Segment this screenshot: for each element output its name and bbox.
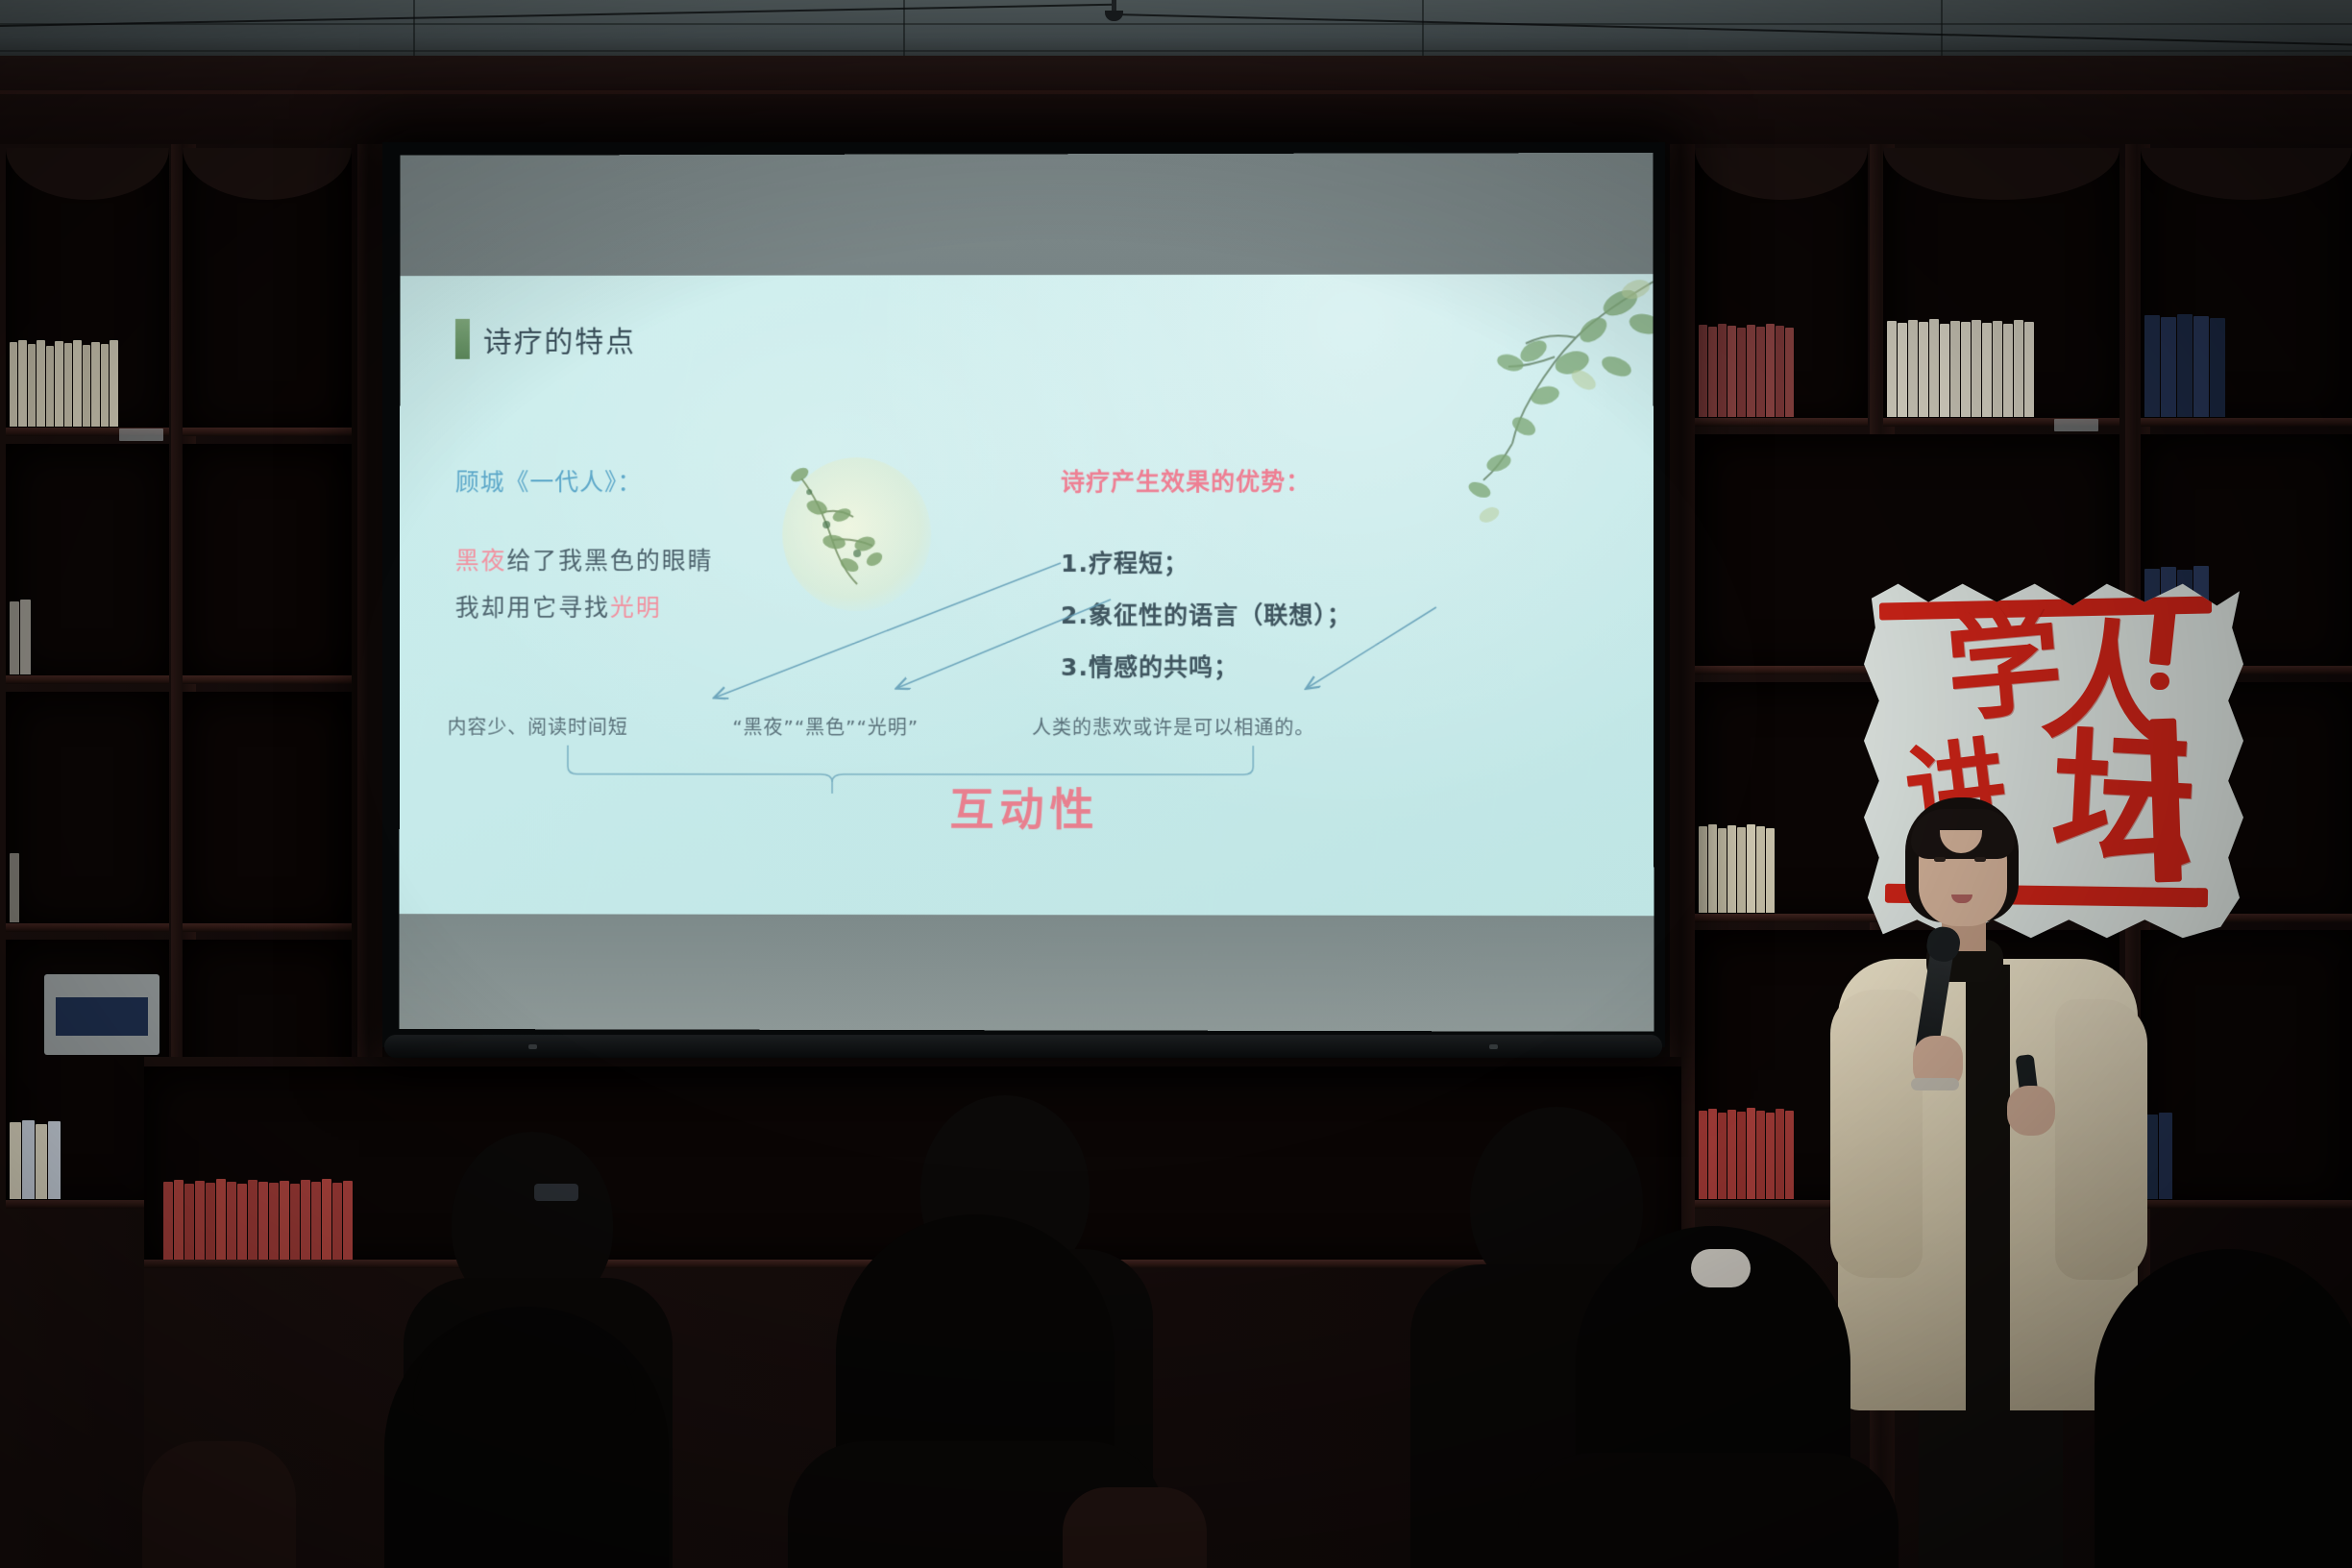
- advantages-heading: 诗疗产生效果的优势：: [1061, 463, 1561, 498]
- screen-letterbox-bottom: [400, 914, 1654, 1032]
- speaker-eye-left: [1934, 857, 1946, 862]
- advantage-item-1: 1.疗程短；: [1061, 538, 1561, 590]
- eyeglasses-icon: [534, 1184, 578, 1201]
- audience-head: [2095, 1249, 2352, 1568]
- speaker-sleeve-left: [1830, 990, 1923, 1278]
- annotation-3: 人类的悲欢或许是可以相通的。: [1032, 712, 1314, 740]
- poem-line-1: 黑夜给了我黑色的眼睛: [455, 538, 905, 585]
- slide-left-column: 顾城《一代人》： 黑夜给了我黑色的眼睛 我却用它寻找光明: [455, 463, 905, 631]
- slide-title-row: 诗疗的特点: [455, 318, 636, 360]
- speaker-sleeve-right: [2055, 999, 2147, 1280]
- slide-title: 诗疗的特点: [483, 318, 636, 360]
- presentation-slide: 诗疗的特点: [400, 274, 1654, 916]
- lecture-room: 诗疗的特点: [0, 0, 2352, 1568]
- hair-clip-icon: [1691, 1249, 1751, 1287]
- chair: [142, 1441, 296, 1568]
- advantage-item-3: 3.情感的共鸣；: [1061, 642, 1562, 694]
- slide-conclusion: 互动性: [400, 773, 1654, 838]
- title-accent-bar: [455, 319, 470, 359]
- speaker-fringe: [1911, 809, 2015, 859]
- slide-right-column: 诗疗产生效果的优势： 1.疗程短； 2.象征性的语言（联想）； 3.情感的共鸣；: [1061, 463, 1562, 694]
- poem-highlight-light: 光明: [610, 594, 662, 622]
- advantage-item-2: 2.象征性的语言（联想）；: [1061, 590, 1561, 642]
- speaker-legs: [1919, 1393, 2063, 1568]
- poem-line-2-start: 我却用它寻找: [455, 594, 610, 622]
- poem-line-1-rest: 给了我黑色的眼睛: [506, 547, 713, 575]
- audience-body: [1518, 1453, 1899, 1568]
- screen-letterbox-top: [400, 153, 1653, 276]
- chair: [1063, 1487, 1207, 1568]
- projection-screen: 诗疗的特点: [400, 153, 1654, 1032]
- speaker-hand-right: [2007, 1086, 2055, 1136]
- speaker-bracelet: [1911, 1078, 1959, 1090]
- speaker-eye-right: [1974, 857, 1986, 862]
- poem-highlight-night: 黑夜: [455, 547, 507, 575]
- annotation-1: 内容少、阅读时间短: [448, 712, 628, 740]
- cornice-molding: [0, 56, 2352, 147]
- poem-line-2: 我却用它寻找光明: [455, 585, 905, 632]
- projection-screen-roller: [384, 1035, 1662, 1058]
- poem-attribution: 顾城《一代人》：: [455, 463, 905, 498]
- annotation-2: “黑夜”“黑色”“光明”: [732, 712, 919, 740]
- sprinkler-head: [1101, 0, 1126, 25]
